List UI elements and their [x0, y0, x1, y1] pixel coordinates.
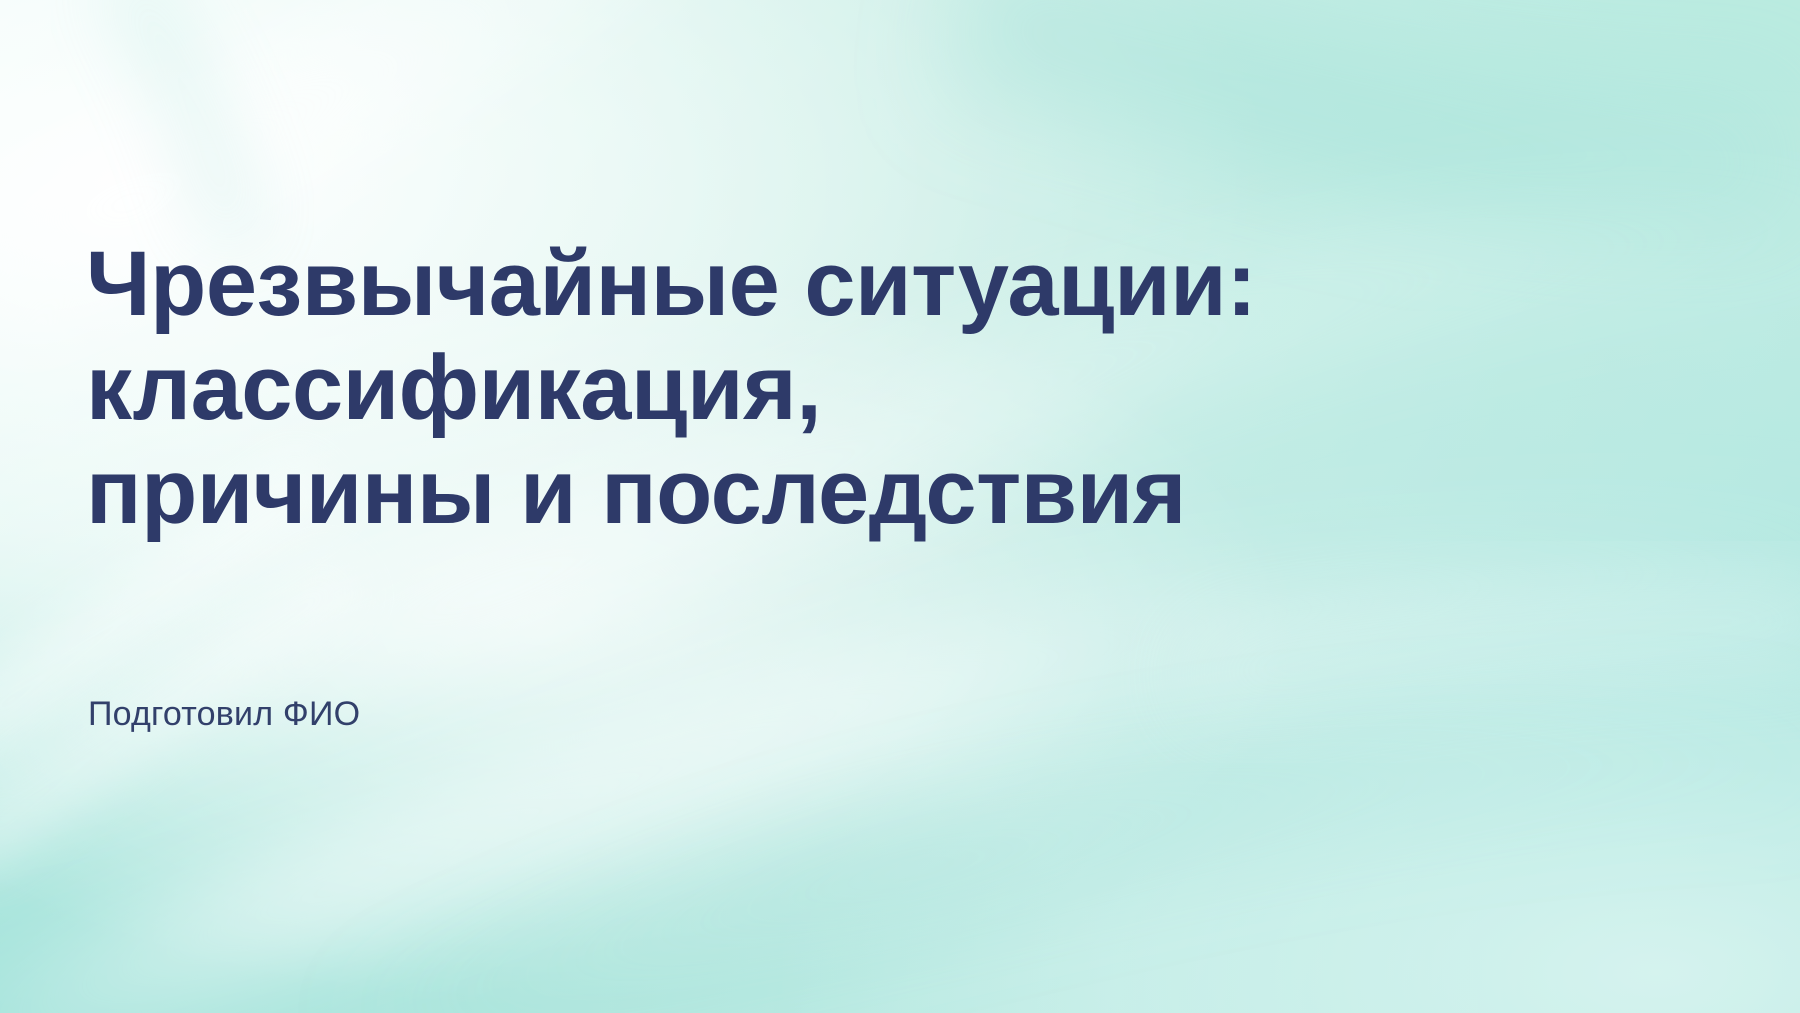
- author-byline: Подготовил ФИО: [88, 692, 360, 736]
- page-title: Чрезвычайные ситуации: классификация, пр…: [86, 232, 1506, 544]
- presentation-title-slide: Чрезвычайные ситуации: классификация, пр…: [0, 0, 1800, 1013]
- slide-content: Чрезвычайные ситуации: классификация, пр…: [86, 0, 1566, 1013]
